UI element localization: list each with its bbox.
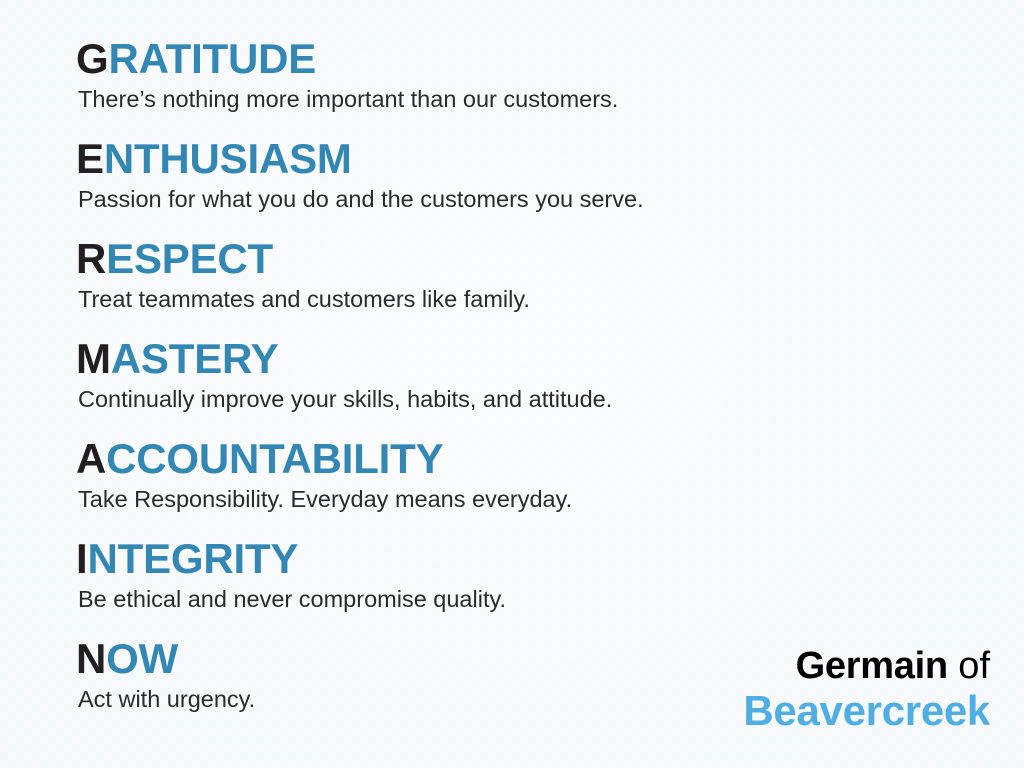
value-word-remainder: CCOUNTABILITY: [106, 435, 443, 482]
value-description-mastery: Continually improve your skills, habits,…: [78, 385, 976, 413]
value-description-integrity: Be ethical and never compromise quality.: [78, 585, 976, 613]
value-description-enthusiasm: Passion for what you do and the customer…: [78, 185, 976, 213]
value-heading-integrity: INTEGRITY: [76, 536, 976, 582]
value-description-respect: Treat teammates and customers like famil…: [78, 285, 976, 313]
value-description-gratitude: There’s nothing more important than our …: [78, 85, 976, 113]
value-entry-respect: RESPECT Treat teammates and customers li…: [76, 236, 976, 336]
value-description-accountability: Take Responsibility. Everyday means ever…: [78, 485, 976, 513]
value-heading-mastery: MASTERY: [76, 336, 976, 382]
value-heading-accountability: ACCOUNTABILITY: [76, 436, 976, 482]
value-initial-letter: I: [76, 535, 87, 582]
value-heading-respect: RESPECT: [76, 236, 976, 282]
value-word-remainder: RATITUDE: [108, 35, 316, 82]
value-heading-gratitude: GRATITUDE: [76, 36, 976, 82]
value-word-remainder: NTEGRITY: [87, 535, 298, 582]
value-entry-enthusiasm: ENTHUSIASM Passion for what you do and t…: [76, 136, 976, 236]
core-values-list: GRATITUDE There’s nothing more important…: [76, 36, 976, 736]
value-initial-letter: G: [76, 35, 108, 82]
value-initial-letter: N: [76, 635, 106, 682]
logo-top-line: Germain of: [743, 645, 990, 687]
logo-location-name: Beavercreek: [743, 688, 990, 734]
value-initial-letter: A: [76, 435, 106, 482]
value-initial-letter: M: [76, 335, 111, 382]
value-initial-letter: R: [76, 235, 106, 282]
value-entry-gratitude: GRATITUDE There’s nothing more important…: [76, 36, 976, 136]
value-entry-accountability: ACCOUNTABILITY Take Responsibility. Ever…: [76, 436, 976, 536]
value-initial-letter: E: [76, 135, 104, 182]
brand-logo: Germain of Beavercreek: [743, 645, 990, 734]
value-word-remainder: ESPECT: [106, 235, 273, 282]
value-word-remainder: NTHUSIASM: [104, 135, 352, 182]
value-entry-mastery: MASTERY Continually improve your skills,…: [76, 336, 976, 436]
value-word-remainder: ASTERY: [111, 335, 279, 382]
values-poster: GRATITUDE There’s nothing more important…: [0, 0, 1024, 768]
logo-dealer-name: Germain: [796, 645, 948, 687]
value-entry-integrity: INTEGRITY Be ethical and never compromis…: [76, 536, 976, 636]
value-word-remainder: OW: [106, 635, 178, 682]
logo-connector-word: of: [948, 645, 990, 687]
value-heading-enthusiasm: ENTHUSIASM: [76, 136, 976, 182]
